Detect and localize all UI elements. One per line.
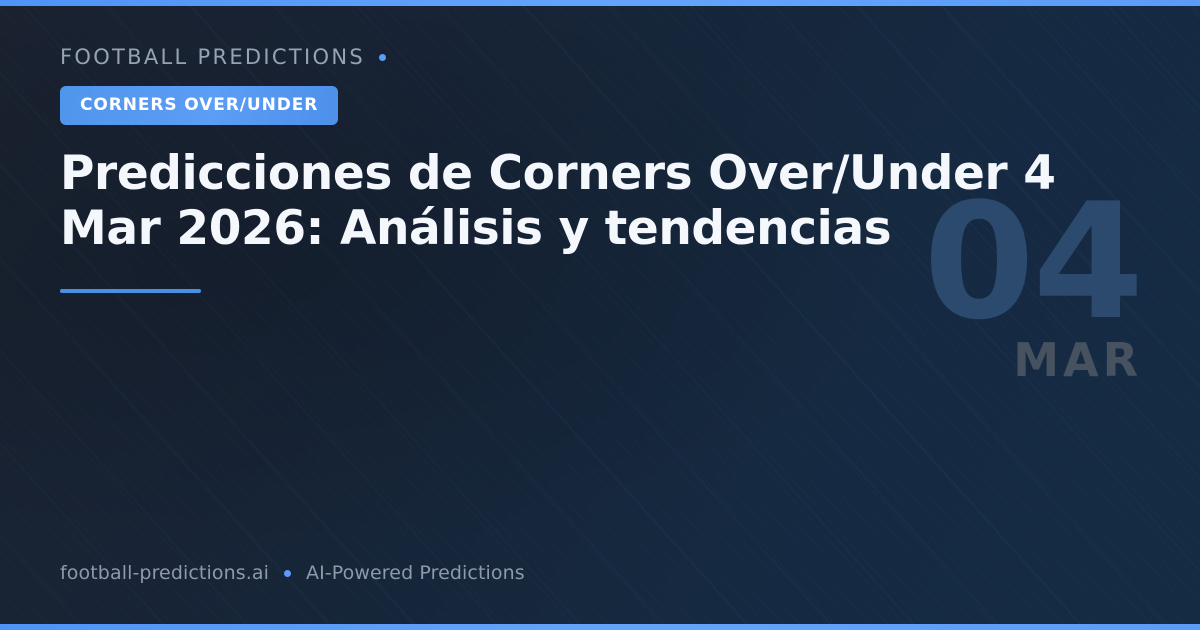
- top-accent-bar: [0, 0, 1200, 6]
- footer-tagline: AI-Powered Predictions: [306, 562, 525, 584]
- site-url[interactable]: football-predictions.ai: [60, 562, 269, 584]
- social-share-card: 04 MAR FOOTBALL PREDICTIONS CORNERS OVER…: [0, 0, 1200, 630]
- dot-icon: [284, 570, 291, 577]
- dot-icon: [379, 54, 386, 61]
- card-footer: football-predictions.ai AI-Powered Predi…: [60, 562, 525, 584]
- eyebrow-row: FOOTBALL PREDICTIONS: [60, 44, 1070, 70]
- card-content: FOOTBALL PREDICTIONS CORNERS OVER/UNDER …: [60, 44, 1070, 293]
- title-underline-accent: [60, 289, 201, 293]
- page-title: Predicciones de Corners Over/Under 4 Mar…: [60, 146, 1060, 257]
- eyebrow-label: FOOTBALL PREDICTIONS: [60, 45, 365, 69]
- bottom-accent-bar: [0, 624, 1200, 630]
- category-badge[interactable]: CORNERS OVER/UNDER: [60, 86, 338, 125]
